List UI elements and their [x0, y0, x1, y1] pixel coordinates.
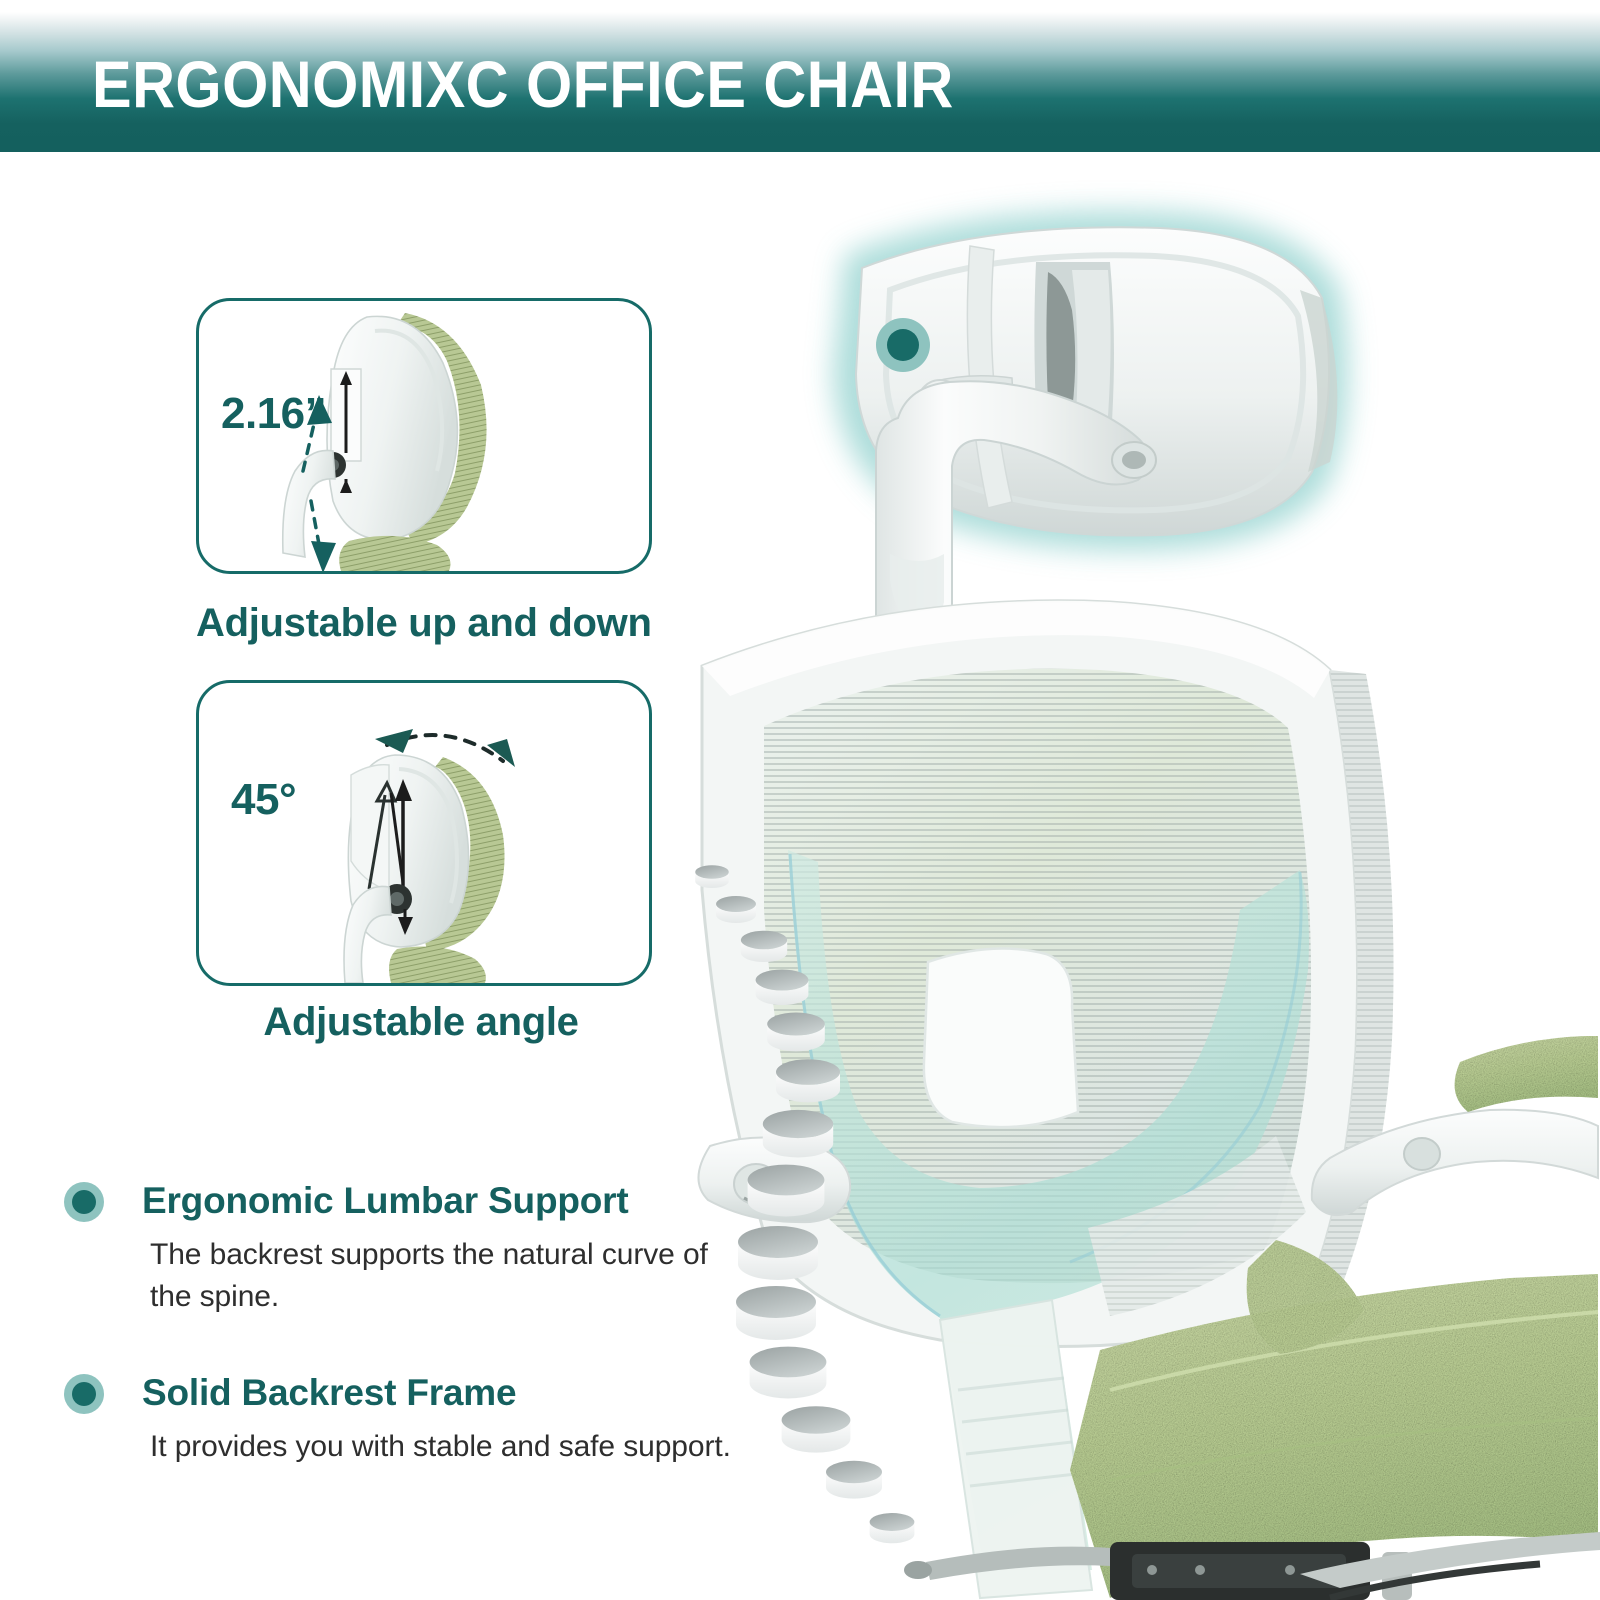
- bullet-description-lumbar-support: The backrest supports the natural curve …: [150, 1234, 730, 1318]
- feature-bullet-list: Ergonomic Lumbar Support The backrest su…: [64, 1178, 784, 1494]
- bullet-description-backrest-frame: It provides you with stable and safe sup…: [150, 1426, 750, 1468]
- bullet-dot-icon: [64, 1182, 104, 1222]
- feature-box-adjustable-angle: 45°: [196, 680, 652, 986]
- caption-adjustable-up-down: Adjustable up and down: [196, 601, 646, 646]
- page-title: ERGONOMIXC OFFICE CHAIR: [92, 48, 954, 120]
- bullet-title-lumbar-support: Ergonomic Lumbar Support: [142, 1178, 784, 1224]
- list-item: Ergonomic Lumbar Support The backrest su…: [64, 1178, 784, 1318]
- list-item: Solid Backrest Frame It provides you wit…: [64, 1370, 784, 1468]
- measurement-label-up-down: 2.16”: [221, 389, 326, 439]
- caption-adjustable-angle: Adjustable angle: [196, 1000, 646, 1045]
- headrest-angle-adjust-icon: [199, 683, 649, 983]
- header-banner: ERGONOMIXC OFFICE CHAIR: [0, 12, 1600, 152]
- bullet-title-backrest-frame: Solid Backrest Frame: [142, 1370, 784, 1416]
- headrest-callout-dot: [876, 318, 930, 372]
- bullet-dot-icon: [64, 1374, 104, 1414]
- feature-box-adjustable-up-down: 2.16”: [196, 298, 652, 574]
- measurement-label-angle: 45°: [231, 775, 296, 825]
